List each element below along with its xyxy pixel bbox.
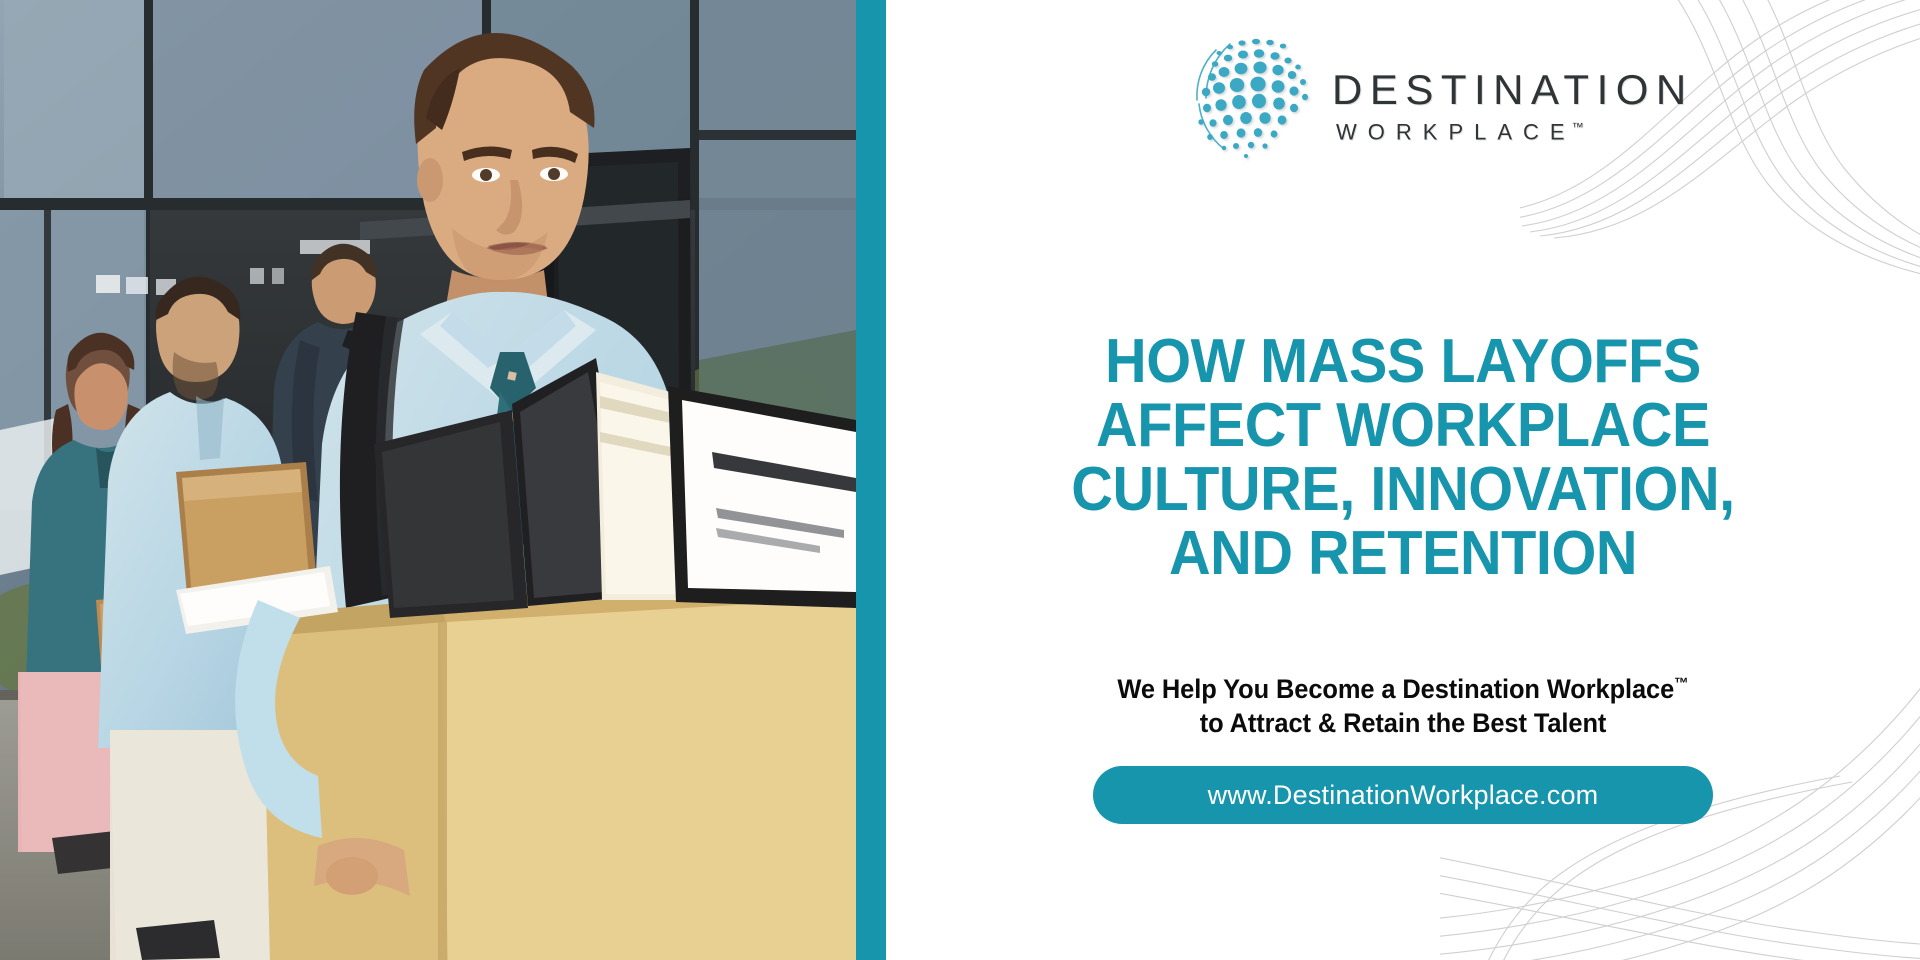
dotted-globe-icon: [1186, 30, 1322, 166]
content-pane: DESTINATION WORKPLACE™ HOW MASS LAYOFFS …: [886, 0, 1920, 960]
marketing-banner: DESTINATION WORKPLACE™ HOW MASS LAYOFFS …: [0, 0, 1920, 960]
headline-line-1: HOW MASS LAYOFFS: [922, 330, 1884, 394]
hero-photo-illustration: [0, 0, 856, 960]
tagline-line-1: We Help You Become a Destination Workpla…: [907, 672, 1900, 706]
tagline-trademark-symbol: ™: [1674, 675, 1688, 692]
hero-photo: [0, 0, 856, 960]
logo-line-workplace: WORKPLACE™: [1336, 121, 1584, 143]
logo-wordmark: DESTINATION WORKPLACE™: [1332, 53, 1694, 143]
website-url-button[interactable]: www.DestinationWorkplace.com: [1093, 766, 1713, 824]
headline-line-2: AFFECT WORKPLACE: [922, 394, 1884, 458]
tagline: We Help You Become a Destination Workpla…: [907, 672, 1900, 741]
headline-line-3: CULTURE, INNOVATION,: [922, 458, 1884, 522]
tagline-line-1-text: We Help You Become a Destination Workpla…: [1117, 674, 1674, 704]
tagline-line-2: to Attract & Retain the Best Talent: [907, 706, 1900, 740]
headline: HOW MASS LAYOFFS AFFECT WORKPLACE CULTUR…: [922, 330, 1884, 587]
logo-line-destination: DESTINATION: [1332, 69, 1694, 111]
logo-trademark-symbol: ™: [1572, 120, 1584, 134]
brand-logo[interactable]: DESTINATION WORKPLACE™: [1186, 28, 1806, 168]
website-url-label: www.DestinationWorkplace.com: [1208, 780, 1599, 811]
headline-line-4: AND RETENTION: [922, 522, 1884, 586]
logo-workplace-text: WORKPLACE: [1336, 119, 1576, 144]
teal-divider-bar: [856, 0, 886, 960]
